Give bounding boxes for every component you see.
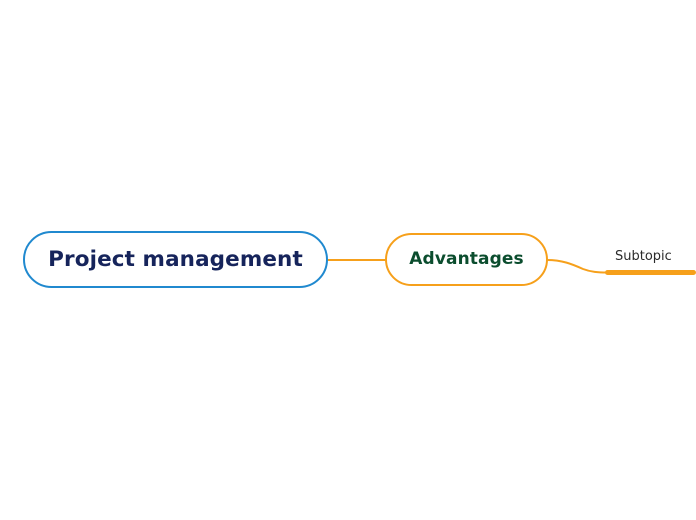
mindmap-node-subtopic-underline <box>605 270 696 275</box>
mindmap-node-advantages-label: Advantages <box>409 251 523 268</box>
mindmap-node-advantages[interactable]: Advantages <box>385 233 548 286</box>
mindmap-node-root[interactable]: Project management <box>23 231 328 288</box>
connector-advantages-to-subtopic <box>547 260 607 273</box>
mindmap-node-subtopic-label: Subtopic <box>605 249 696 265</box>
mindmap-canvas: Project management Advantages Subtopic <box>0 0 696 520</box>
mindmap-node-subtopic[interactable]: Subtopic <box>605 249 696 275</box>
mindmap-node-root-label: Project management <box>48 249 303 271</box>
